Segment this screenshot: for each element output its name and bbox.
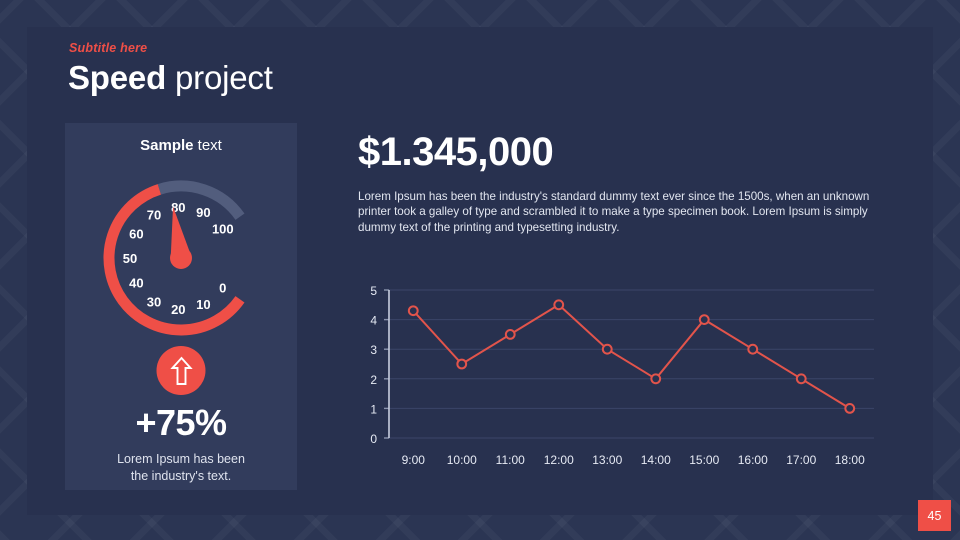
data-point-15:00[interactable] — [700, 315, 709, 324]
data-point-13:00[interactable] — [603, 345, 612, 354]
x-tick-label-13:00: 13:00 — [592, 453, 622, 467]
gauge-tick-10: 10 — [196, 297, 210, 312]
trend-up-badge — [157, 346, 206, 395]
gauge-tick-60: 60 — [129, 226, 143, 241]
headline-metric: $1.345,000 — [358, 130, 553, 175]
data-point-17:00[interactable] — [797, 374, 806, 383]
data-point-14:00[interactable] — [651, 374, 660, 383]
chart-y-axis — [384, 290, 389, 438]
data-point-18:00[interactable] — [845, 404, 854, 413]
page-title-light: project — [166, 59, 273, 96]
gauge-tick-100: 100 — [212, 222, 234, 237]
line-chart: 012345 9:0010:0011:0012:0013:0014:0015:0… — [358, 277, 886, 472]
x-tick-label-17:00: 17:00 — [786, 453, 816, 467]
kpi-card-title-strong: Sample — [140, 137, 193, 154]
data-point-11:00[interactable] — [506, 330, 515, 339]
y-tick-label-5: 5 — [370, 284, 377, 298]
gauge-tick-90: 90 — [196, 205, 210, 220]
data-point-16:00[interactable] — [748, 345, 757, 354]
kpi-caption-line2: the industry's text. — [131, 469, 231, 483]
y-tick-label-3: 3 — [370, 343, 377, 357]
kpi-caption-line1: Lorem Ipsum has been — [117, 452, 245, 466]
gauge-tick-0: 0 — [219, 280, 226, 295]
x-tick-label-12:00: 12:00 — [544, 453, 574, 467]
x-tick-label-15:00: 15:00 — [689, 453, 719, 467]
slide-subtitle: Subtitle here — [69, 41, 147, 55]
gauge-tick-50: 50 — [123, 251, 137, 266]
y-tick-label-4: 4 — [370, 314, 377, 328]
y-tick-label-0: 0 — [370, 432, 377, 446]
line-chart-svg: 012345 9:0010:0011:0012:0013:0014:0015:0… — [358, 277, 886, 472]
gauge-tick-30: 30 — [147, 294, 161, 309]
page-title-strong: Speed — [68, 59, 166, 96]
data-point-12:00[interactable] — [554, 300, 563, 309]
slide-root: Subtitle here Speed project Sample text … — [0, 0, 960, 540]
chart-y-tick-labels: 012345 — [370, 284, 377, 446]
body-paragraph: Lorem Ipsum has been the industry's stan… — [358, 189, 898, 235]
x-tick-label-10:00: 10:00 — [447, 453, 477, 467]
page-title: Speed project — [68, 59, 273, 97]
x-tick-label-11:00: 11:00 — [496, 453, 525, 467]
speed-gauge: 0102030405060708090100 — [91, 168, 271, 348]
x-tick-label-9:00: 9:00 — [402, 453, 426, 467]
kpi-card-title: Sample text — [65, 137, 297, 154]
x-tick-label-18:00: 18:00 — [835, 453, 865, 467]
gauge-hub — [170, 247, 192, 269]
x-tick-label-14:00: 14:00 — [641, 453, 671, 467]
data-point-10:00[interactable] — [457, 360, 466, 369]
x-tick-label-16:00: 16:00 — [738, 453, 768, 467]
data-point-9:00[interactable] — [409, 306, 418, 315]
chart-series-line — [413, 305, 850, 409]
kpi-value: +75% — [65, 402, 297, 444]
page-number-badge: 45 — [918, 500, 951, 531]
kpi-card-title-light: text — [194, 137, 222, 154]
y-tick-label-2: 2 — [370, 373, 377, 387]
kpi-caption: Lorem Ipsum has been the industry's text… — [65, 451, 297, 485]
gauge-tick-70: 70 — [147, 208, 161, 223]
gauge-tick-20: 20 — [171, 302, 185, 317]
gauge-tick-40: 40 — [129, 276, 143, 291]
arrow-up-icon — [170, 356, 192, 386]
kpi-card: Sample text 0102030405060708090100 +75% … — [65, 123, 297, 490]
y-tick-label-1: 1 — [370, 402, 377, 416]
gauge-svg: 0102030405060708090100 — [91, 168, 271, 348]
chart-x-tick-labels: 9:0010:0011:0012:0013:0014:0015:0016:001… — [402, 453, 866, 467]
